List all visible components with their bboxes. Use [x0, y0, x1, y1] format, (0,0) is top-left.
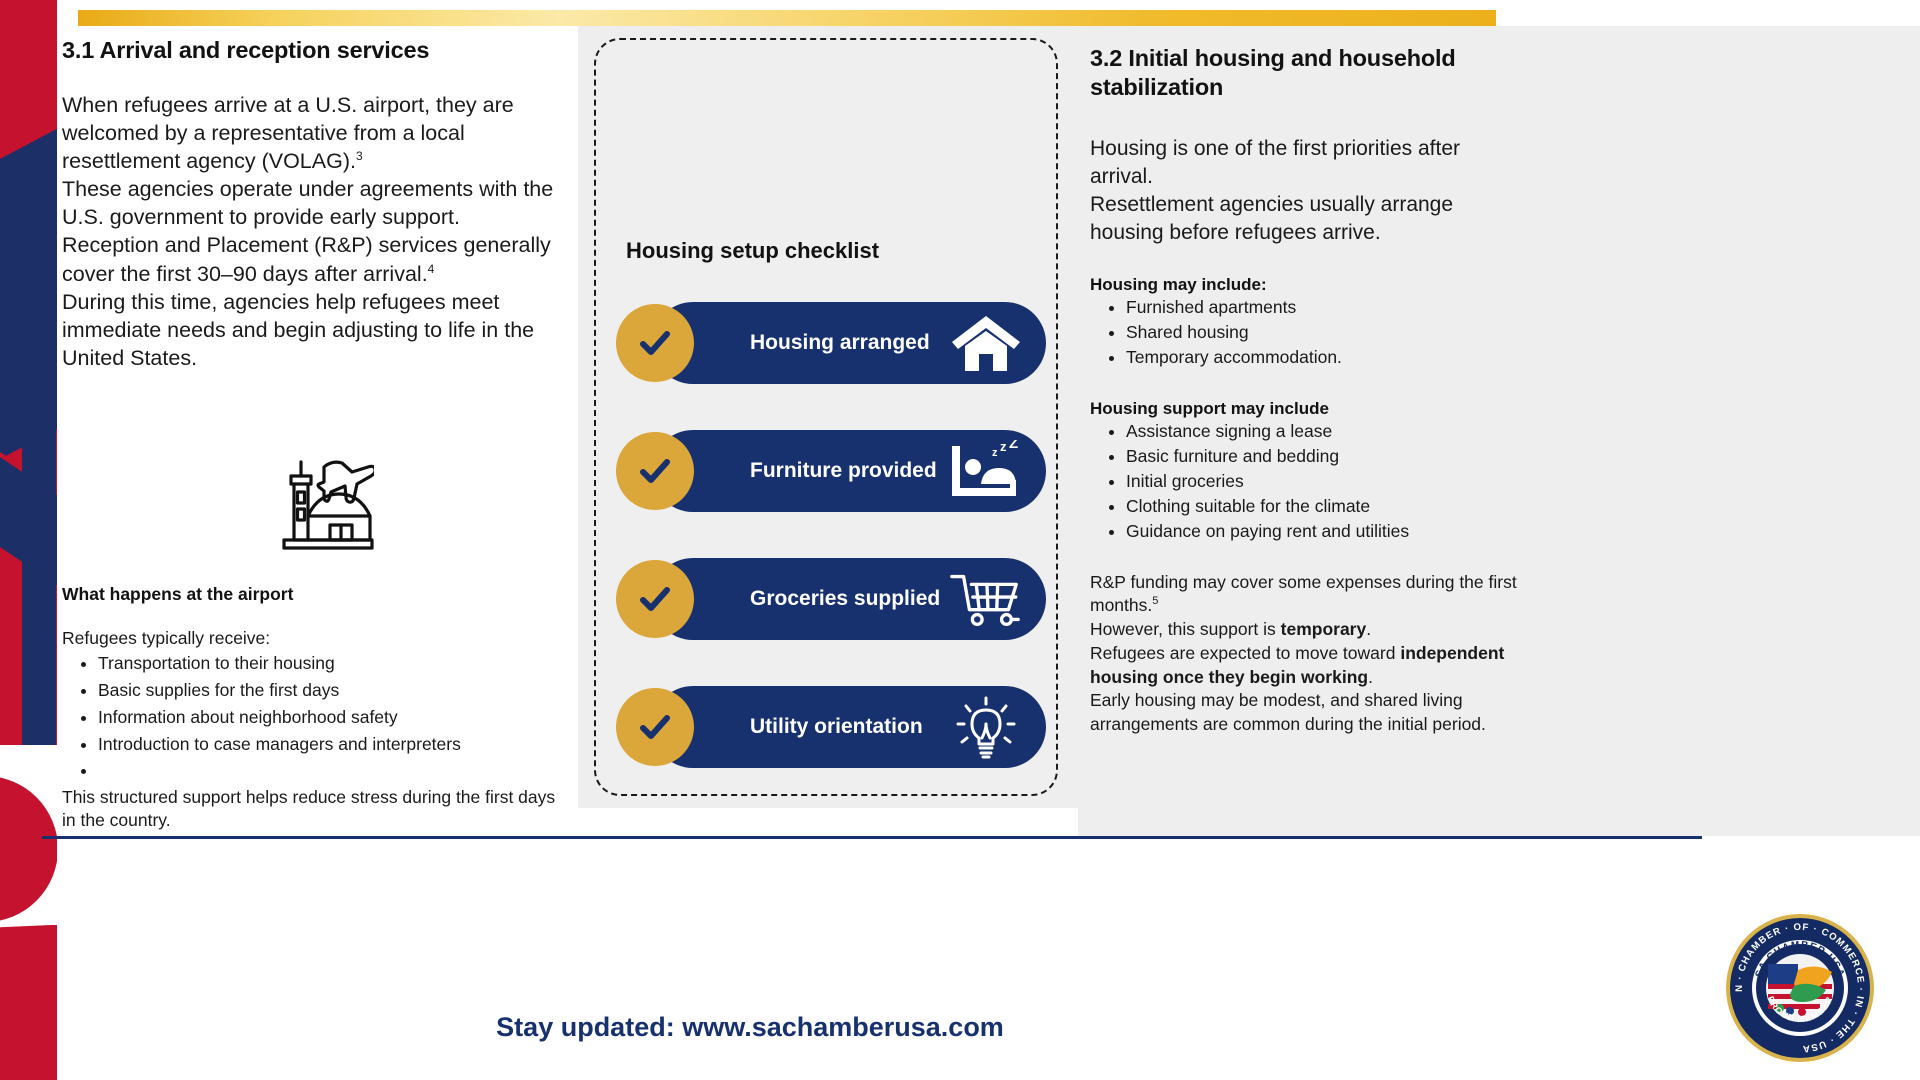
gold-accent-bar	[78, 10, 1496, 26]
shopping-cart-icon	[948, 568, 1024, 630]
right-column: 3.2 Initial housing and household stabil…	[1090, 44, 1540, 737]
airport-subheading: What happens at the airport	[62, 584, 562, 605]
checklist-item-label: Housing arranged	[750, 302, 930, 384]
checklist-item-housing-arranged[interactable]: Housing arranged	[616, 302, 1046, 384]
list-item: Assistance signing a lease	[1126, 419, 1540, 444]
housing-support-label: Housing support may include	[1090, 399, 1540, 419]
list-item: Basic supplies for the first days	[98, 677, 562, 704]
airport-terminal-icon	[264, 454, 374, 564]
left-paragraph-2: These agencies operate under agreements …	[62, 177, 553, 229]
housing-checklist-card	[594, 38, 1058, 796]
checklist-item-utility-orientation[interactable]: Utility orientation	[616, 686, 1046, 768]
housing-may-include-list: Furnished apartments Shared housing Temp…	[1090, 295, 1540, 371]
checklist-item-label: Utility orientation	[750, 686, 923, 768]
airport-lead-in: Refugees typically receive:	[62, 627, 562, 650]
list-item: Basic furniture and bedding	[1126, 444, 1540, 469]
closing-line-4: Early housing may be modest, and shared …	[1090, 690, 1486, 734]
left-paragraph-block: When refugees arrive at a U.S. airport, …	[62, 91, 572, 373]
left-column: 3.1 Arrival and reception services When …	[62, 36, 572, 826]
right-intro-text: Housing is one of the first priorities a…	[1090, 135, 1490, 247]
list-item: Clothing suitable for the climate	[1126, 494, 1540, 519]
house-icon	[948, 312, 1024, 374]
check-mark-icon	[616, 688, 694, 766]
airport-closing-text: This structured support helps reduce str…	[62, 786, 562, 833]
infographic-slide: 3.1 Arrival and reception services When …	[0, 0, 1920, 1080]
closing-emphasis-temporary: temporary	[1281, 619, 1367, 639]
section-3-2-heading: 3.2 Initial housing and household stabil…	[1090, 44, 1490, 101]
closing-line-3c: .	[1368, 667, 1373, 687]
list-item: Temporary accommodation.	[1126, 345, 1540, 370]
flag-red-bottom	[0, 928, 57, 1080]
housing-support-list: Assistance signing a lease Basic furnitu…	[1090, 419, 1540, 545]
right-intro-line-1: Housing is one of the first priorities a…	[1090, 137, 1460, 188]
list-item-empty	[98, 757, 562, 784]
list-item: Shared housing	[1126, 320, 1540, 345]
housing-may-include-label: Housing may include:	[1090, 275, 1540, 295]
flag-white-hairline	[0, 920, 57, 927]
list-item: Initial groceries	[1126, 469, 1540, 494]
footer-divider	[42, 836, 1702, 839]
svg-text:z: z	[1000, 440, 1007, 454]
checklist-item-groceries-supplied[interactable]: Groceries supplied	[616, 558, 1046, 640]
closing-line-2a: However, this support is	[1090, 619, 1281, 639]
check-mark-icon	[616, 560, 694, 638]
footer-url-text[interactable]: Stay updated: www.sachamberusa.com	[0, 1012, 1500, 1043]
checklist-item-furniture-provided[interactable]: Furniture provided z z Z	[616, 430, 1046, 512]
left-paragraph-3: Reception and Placement (R&P) services g…	[62, 233, 551, 285]
left-flag-decoration	[0, 0, 57, 1080]
checklist-item-label: Groceries supplied	[750, 558, 940, 640]
check-mark-icon	[616, 304, 694, 382]
svg-text:Z: Z	[1009, 440, 1018, 452]
check-mark-icon	[616, 432, 694, 510]
right-intro-line-2: Resettlement agencies usually arrange ho…	[1090, 193, 1453, 244]
lightbulb-icon	[948, 696, 1024, 758]
flag-white-gap	[0, 745, 57, 773]
bed-sleep-icon: z z Z	[948, 440, 1024, 502]
section-3-1-heading: 3.1 Arrival and reception services	[62, 36, 572, 65]
left-paragraph-4: During this time, agencies help refugees…	[62, 290, 534, 370]
footnote-ref-5: 5	[1152, 595, 1158, 607]
footnote-ref-3: 3	[356, 149, 363, 163]
left-paragraph-1: When refugees arrive at a U.S. airport, …	[62, 93, 514, 173]
list-item: Information about neighborhood safety	[98, 704, 562, 731]
list-item: Furnished apartments	[1126, 295, 1540, 320]
list-item: Introduction to case managers and interp…	[98, 731, 562, 758]
airport-bullet-list: Transportation to their housing Basic su…	[62, 650, 562, 784]
closing-line-2c: .	[1366, 619, 1371, 639]
svg-text:z: z	[992, 447, 998, 459]
checklist-item-label: Furniture provided	[750, 430, 937, 512]
closing-line-1: R&P funding may cover some expenses duri…	[1090, 572, 1517, 616]
sa-chamber-usa-logo: SOUTH AFRICAN · CHAMBER · OF · COMMERCE …	[1724, 912, 1876, 1064]
checklist-title: Housing setup checklist	[626, 238, 879, 264]
list-item: Guidance on paying rent and utilities	[1126, 519, 1540, 544]
closing-line-3a: Refugees are expected to move toward	[1090, 643, 1400, 663]
list-item: Transportation to their housing	[98, 650, 562, 677]
right-closing-paragraph: R&P funding may cover some expenses duri…	[1090, 571, 1538, 738]
footnote-ref-4: 4	[428, 261, 435, 275]
